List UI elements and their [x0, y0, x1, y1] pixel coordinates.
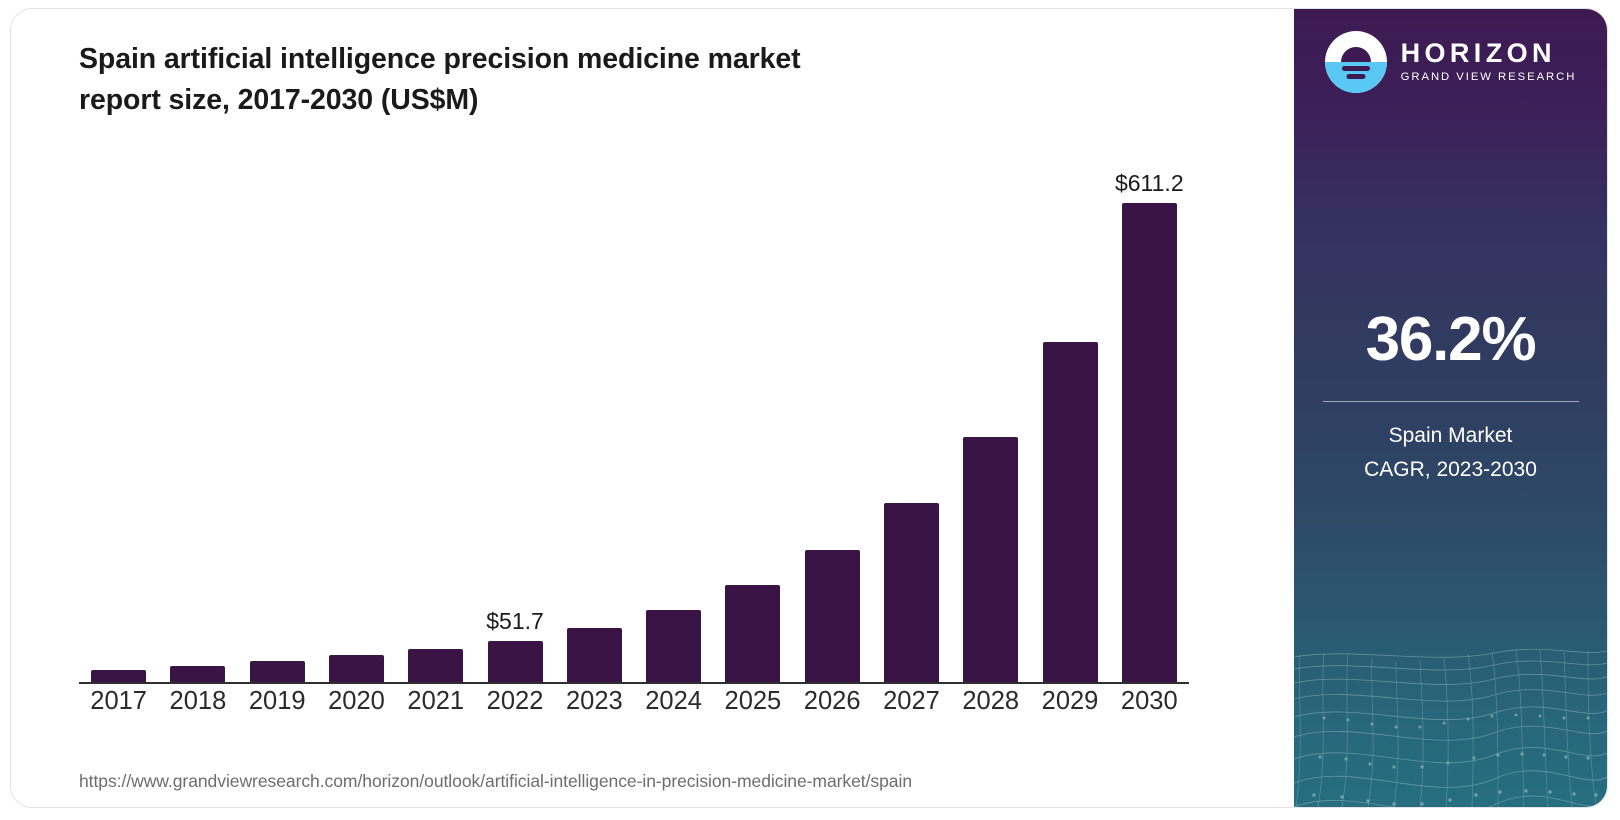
- source-url[interactable]: https://www.grandviewresearch.com/horizo…: [79, 771, 912, 792]
- bar-value-label-2022: $51.7: [486, 608, 544, 635]
- logo-line-2-shape: [1346, 74, 1365, 79]
- horizon-sunrise-icon: [1325, 31, 1387, 93]
- bar-2022[interactable]: [488, 641, 543, 682]
- x-tick-2026: 2026: [793, 687, 872, 716]
- cagr-caption-line-2: CAGR, 2023-2030: [1294, 453, 1607, 487]
- x-tick-2020: 2020: [317, 687, 396, 716]
- bar-slot: $51.7: [475, 149, 554, 682]
- cagr-caption-line-1: Spain Market: [1294, 419, 1607, 453]
- brand-logo: HORIZON GRAND VIEW RESEARCH: [1294, 31, 1607, 93]
- brand-panel: HORIZON GRAND VIEW RESEARCH 36.2% Spain …: [1294, 9, 1607, 807]
- bar-2020[interactable]: [329, 655, 384, 682]
- brand-name: HORIZON: [1401, 40, 1577, 67]
- bar-2021[interactable]: [408, 649, 463, 682]
- x-tick-2027: 2027: [872, 687, 951, 716]
- chart-title-line-2: report size, 2017-2030 (US$M): [79, 80, 1079, 121]
- x-tick-2018: 2018: [158, 687, 237, 716]
- x-axis-line: [79, 682, 1189, 684]
- bar-2025[interactable]: [725, 585, 780, 682]
- logo-line-1-shape: [1342, 66, 1370, 71]
- x-tick-2021: 2021: [396, 687, 475, 716]
- bar-slot: [317, 149, 396, 682]
- x-tick-2024: 2024: [634, 687, 713, 716]
- logo-sun-dome-shape: [1341, 47, 1371, 62]
- bar-slot: [1030, 149, 1109, 682]
- bar-slot: [713, 149, 792, 682]
- x-tick-2029: 2029: [1030, 687, 1109, 716]
- bar-slot: [396, 149, 475, 682]
- chart-card: Spain artificial intelligence precision …: [10, 8, 1608, 808]
- bar-slot: [555, 149, 634, 682]
- bar-slot: [793, 149, 872, 682]
- bar-2026[interactable]: [805, 550, 860, 682]
- cagr-stat-block: 36.2% Spain Market CAGR, 2023-2030: [1294, 309, 1607, 487]
- bar-series: $51.7$611.2: [79, 149, 1189, 682]
- brand-tagline: GRAND VIEW RESEARCH: [1401, 72, 1577, 83]
- x-tick-2019: 2019: [238, 687, 317, 716]
- x-tick-2023: 2023: [555, 687, 634, 716]
- bar-chart-plot: $51.7$611.2: [79, 149, 1189, 684]
- bar-2030[interactable]: [1122, 203, 1177, 682]
- bar-2028[interactable]: [963, 437, 1018, 682]
- x-tick-2025: 2025: [713, 687, 792, 716]
- bar-2018[interactable]: [170, 666, 225, 682]
- bar-2019[interactable]: [250, 661, 305, 682]
- chart-pane: Spain artificial intelligence precision …: [11, 9, 1296, 807]
- wireframe-mesh-decoration: [1294, 617, 1607, 807]
- x-tick-2030: 2030: [1110, 687, 1189, 716]
- bar-2017[interactable]: [91, 670, 146, 682]
- bar-slot: $611.2: [1110, 149, 1189, 682]
- bar-slot: [158, 149, 237, 682]
- bar-2027[interactable]: [884, 503, 939, 682]
- bar-slot: [79, 149, 158, 682]
- bar-slot: [634, 149, 713, 682]
- cagr-value: 36.2%: [1294, 309, 1607, 371]
- bar-slot: [872, 149, 951, 682]
- cagr-caption: Spain Market CAGR, 2023-2030: [1294, 419, 1607, 487]
- bar-value-label-2030: $611.2: [1115, 170, 1184, 197]
- bar-2024[interactable]: [646, 610, 701, 682]
- bar-2023[interactable]: [567, 628, 622, 682]
- brand-wordmark: HORIZON GRAND VIEW RESEARCH: [1401, 40, 1577, 83]
- stat-divider: [1323, 401, 1579, 402]
- chart-title-line-1: Spain artificial intelligence precision …: [79, 39, 1079, 80]
- x-tick-2017: 2017: [79, 687, 158, 716]
- x-tick-2022: 2022: [475, 687, 554, 716]
- page-title: Spain artificial intelligence precision …: [79, 39, 1079, 121]
- bar-2029[interactable]: [1043, 342, 1098, 682]
- x-tick-2028: 2028: [951, 687, 1030, 716]
- bar-slot: [951, 149, 1030, 682]
- bar-slot: [238, 149, 317, 682]
- x-axis-tick-labels: 2017201820192020202120222023202420252026…: [79, 687, 1189, 716]
